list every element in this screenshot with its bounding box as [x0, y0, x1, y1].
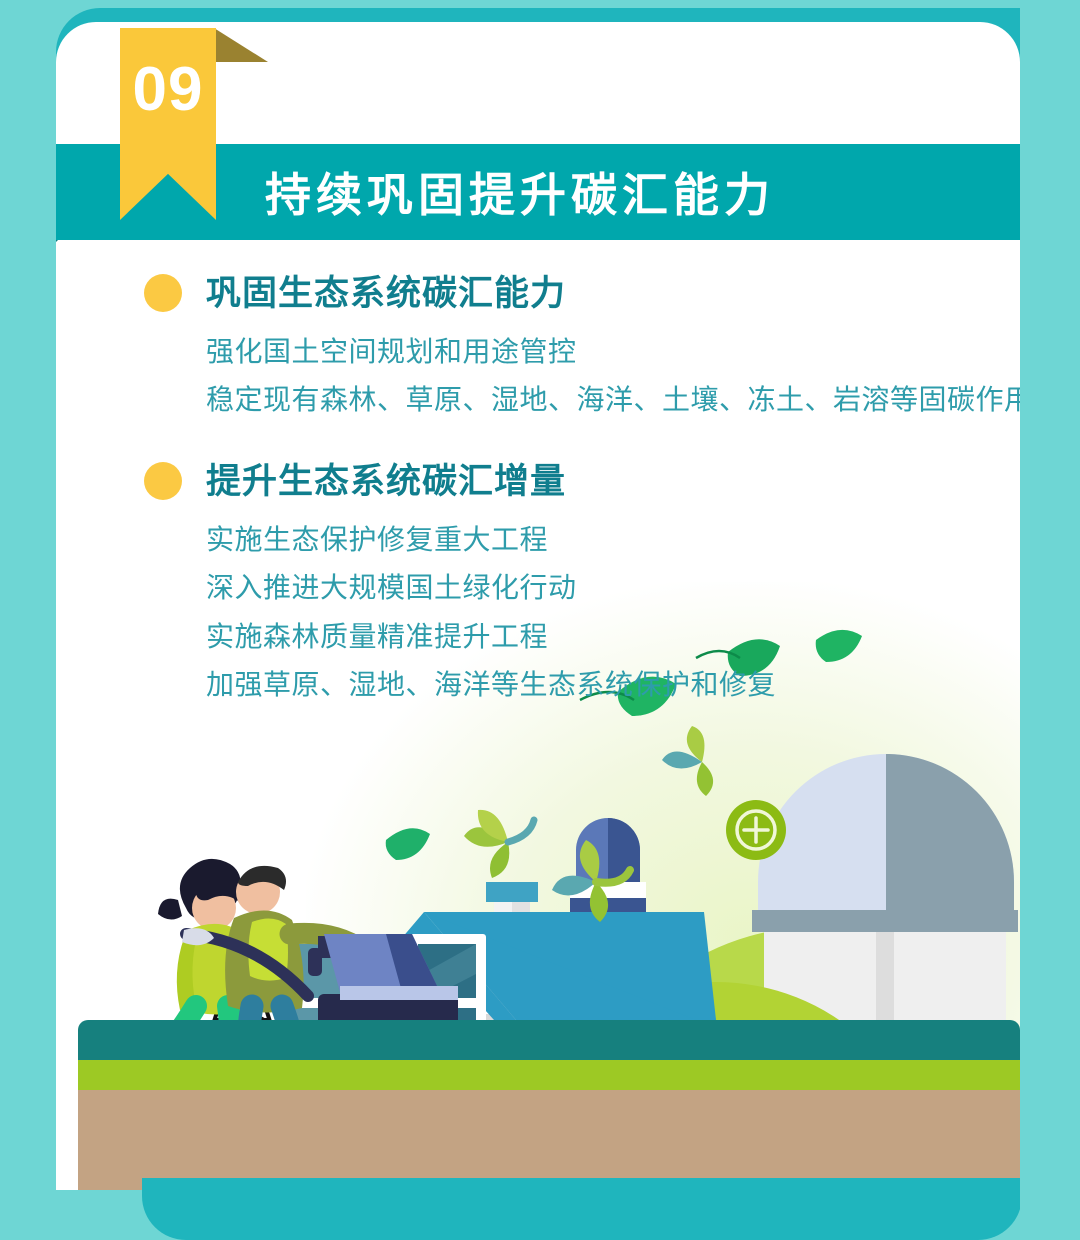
right-margin-strip — [1020, 0, 1080, 1232]
section-number: 09 — [120, 50, 216, 130]
section-2-header: 提升生态系统碳汇增量 — [56, 462, 1020, 500]
infographic-page: 巩固生态系统碳汇能力 强化国土空间规划和用途管控 稳定现有森林、草原、湿地、海洋… — [0, 0, 1080, 1232]
section-2-title: 提升生态系统碳汇增量 — [206, 464, 566, 499]
bullet-dot-icon — [144, 462, 182, 500]
ground-grass — [78, 1060, 1020, 1094]
section-2-line-1: 实施生态保护修复重大工程 — [206, 516, 1020, 564]
section-1-header: 巩固生态系统碳汇能力 — [56, 274, 1020, 312]
ground-path — [78, 1020, 1020, 1064]
content-area: 巩固生态系统碳汇能力 强化国土空间规划和用途管控 稳定现有森林、草原、湿地、海洋… — [56, 274, 1020, 713]
section-1-line-1: 强化国土空间规划和用途管控 — [206, 328, 1020, 376]
section-1-title: 巩固生态系统碳汇能力 — [206, 276, 566, 311]
section-2-line-3: 实施森林质量精准提升工程 — [206, 613, 1020, 661]
left-margin-strip — [0, 0, 56, 1232]
bullet-dot-icon — [144, 274, 182, 312]
section-spacer — [56, 428, 1020, 462]
section-1-lines: 强化国土空间规划和用途管控 稳定现有森林、草原、湿地、海洋、土壤、冻土、岩溶等固… — [206, 328, 1020, 424]
section-2: 提升生态系统碳汇增量 实施生态保护修复重大工程 深入推进大规模国土绿化行动 实施… — [56, 462, 1020, 709]
section-1-line-2: 稳定现有森林、草原、湿地、海洋、土壤、冻土、岩溶等固碳作用 — [206, 376, 1020, 424]
eco-plus-badge — [726, 800, 786, 860]
section-1: 巩固生态系统碳汇能力 强化国土空间规划和用途管控 稳定现有森林、草原、湿地、海洋… — [56, 274, 1020, 424]
section-2-line-4: 加强草原、湿地、海洋等生态系统保护和修复 — [206, 661, 1020, 709]
bottom-card-rounding — [142, 1178, 1022, 1240]
section-2-line-2: 深入推进大规模国土绿化行动 — [206, 564, 1020, 612]
section-2-lines: 实施生态保护修复重大工程 深入推进大规模国土绿化行动 实施森林质量精准提升工程 … — [206, 516, 1020, 709]
